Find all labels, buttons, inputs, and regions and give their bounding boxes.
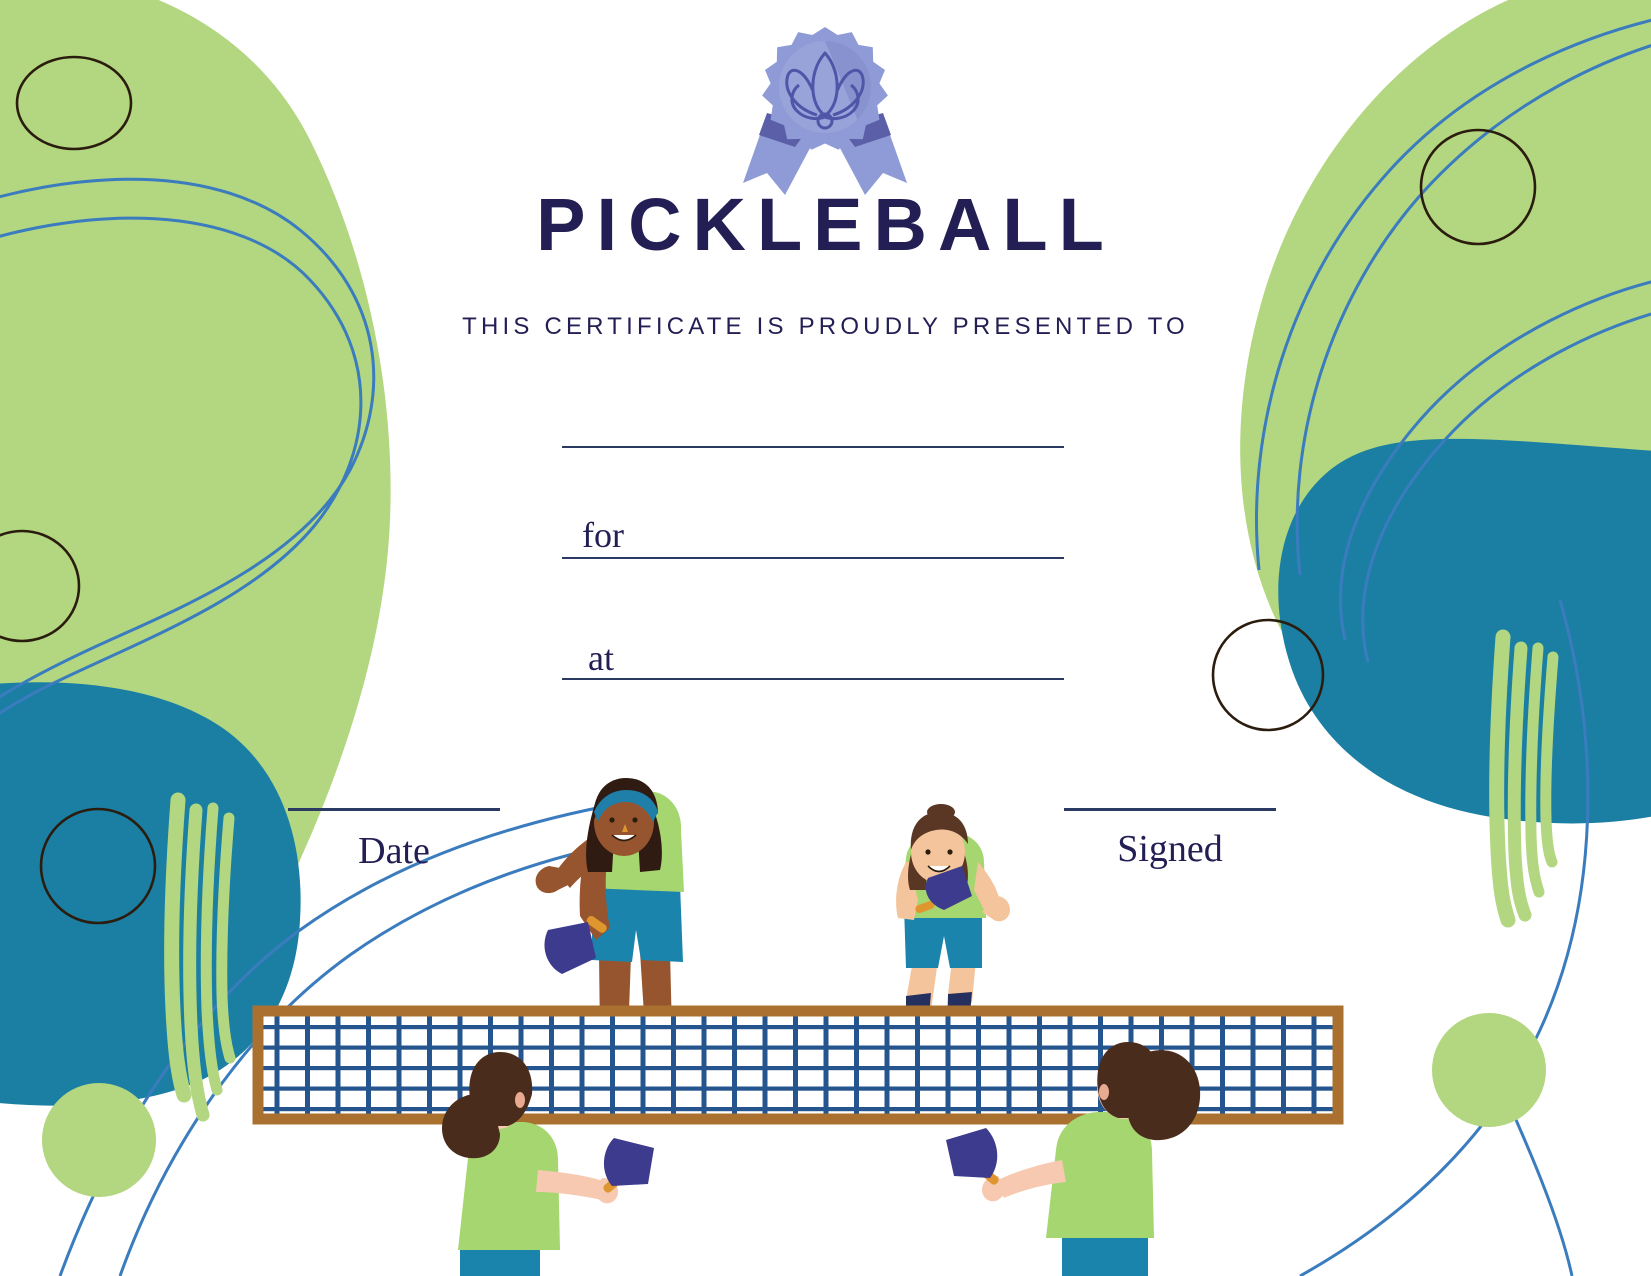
- at-label: at: [588, 640, 614, 676]
- certificate-text-content: PICKLEBALL THIS CERTIFICATE IS PROUDLY P…: [0, 0, 1651, 1276]
- date-label: Date: [288, 832, 500, 870]
- at-line[interactable]: [562, 678, 1064, 680]
- signed-line[interactable]: [1064, 808, 1276, 811]
- certificate-subtitle: THIS CERTIFICATE IS PROUDLY PRESENTED TO: [0, 315, 1651, 339]
- for-line[interactable]: [562, 557, 1064, 559]
- for-label: for: [582, 517, 624, 553]
- signed-label: Signed: [1064, 830, 1276, 868]
- recipient-name-line[interactable]: [562, 446, 1064, 448]
- page-title: PICKLEBALL: [0, 188, 1651, 262]
- certificate-canvas: PICKLEBALL THIS CERTIFICATE IS PROUDLY P…: [0, 0, 1651, 1276]
- date-line[interactable]: [288, 808, 500, 811]
